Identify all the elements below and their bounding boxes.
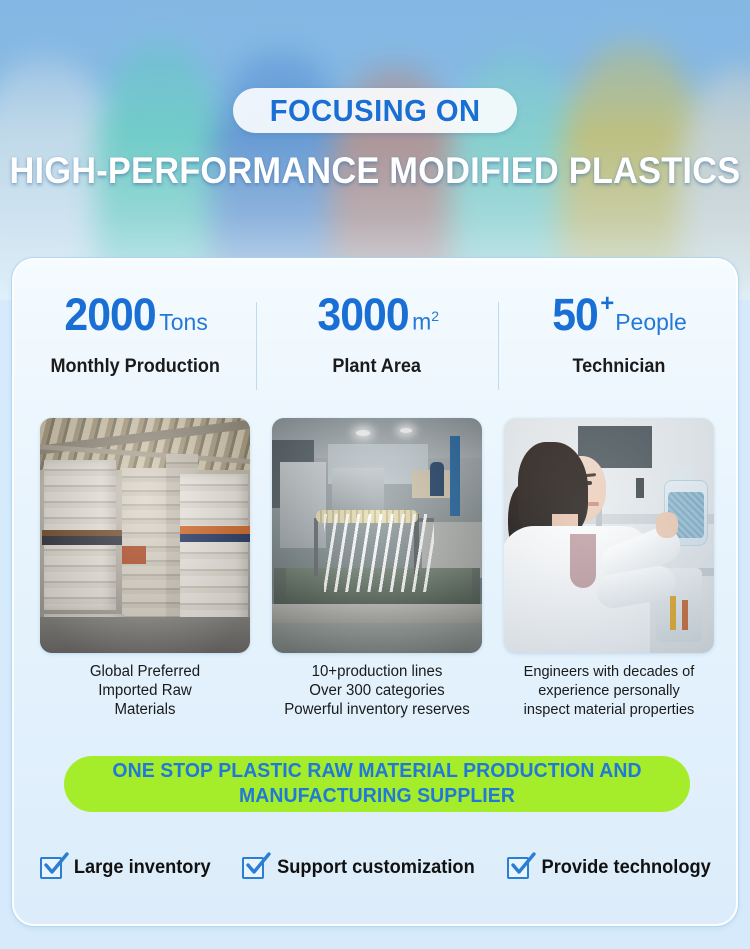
stat-unit: m2 bbox=[412, 301, 439, 337]
content-card: 2000 Tons Monthly Production 3000 m2 Pla… bbox=[12, 258, 738, 926]
stat-number: 2000 bbox=[65, 292, 156, 338]
checkbox-checked-icon[interactable] bbox=[242, 857, 264, 879]
one-stop-supplier-banner[interactable]: ONE STOP PLASTIC RAW MATERIAL PRODUCTION… bbox=[64, 756, 690, 812]
stat-unit-superscript: 2 bbox=[431, 308, 439, 324]
lab-technician-inspecting-pellets-photo bbox=[504, 418, 714, 653]
stat-number: 3000 bbox=[317, 292, 408, 338]
focusing-on-badge-label: FOCUSING ON bbox=[270, 93, 481, 129]
one-stop-supplier-banner-label: ONE STOP PLASTIC RAW MATERIAL PRODUCTION… bbox=[73, 759, 680, 809]
stat-label: Plant Area bbox=[333, 356, 422, 378]
checkbox-checked-icon[interactable] bbox=[40, 857, 62, 879]
checklist-item-label: Support customization bbox=[277, 857, 475, 879]
warehouse-stacked-raw-material-bags-photo bbox=[40, 418, 250, 653]
stat-plant-area: 3000 m2 Plant Area bbox=[256, 292, 498, 402]
stat-unit: People bbox=[615, 307, 687, 337]
stat-label: Monthly Production bbox=[50, 356, 219, 378]
stat-unit: Tons bbox=[159, 307, 208, 337]
feature-columns: Global Preferred Imported Raw Materials … bbox=[40, 418, 714, 719]
checklist-item-support-customization[interactable]: Support customization bbox=[242, 857, 479, 879]
stat-label: Technician bbox=[573, 356, 666, 378]
feature-checklist: Large inventory Support customization Pr… bbox=[40, 848, 714, 888]
feature-production-lines: 10+production lines Over 300 categories … bbox=[272, 418, 482, 719]
stat-number: 50 bbox=[552, 292, 598, 338]
hero-banner: FOCUSING ON HIGH-PERFORMANCE MODIFIED PL… bbox=[0, 0, 750, 300]
feature-engineers: Engineers with decades of experience per… bbox=[504, 418, 714, 719]
checklist-item-provide-technology[interactable]: Provide technology bbox=[507, 857, 714, 879]
checklist-item-label: Provide technology bbox=[541, 857, 710, 879]
feature-caption: Global Preferred Imported Raw Materials bbox=[43, 662, 247, 719]
focusing-on-badge: FOCUSING ON bbox=[233, 88, 517, 133]
feature-caption: Engineers with decades of experience per… bbox=[507, 662, 711, 719]
stat-technician: 50 + People Technician bbox=[498, 292, 740, 402]
page-title: HIGH-PERFORMANCE MODIFIED PLASTICS bbox=[10, 150, 741, 192]
extrusion-production-line-water-bath-photo bbox=[272, 418, 482, 653]
stat-monthly-production: 2000 Tons Monthly Production bbox=[14, 292, 256, 402]
checklist-item-large-inventory[interactable]: Large inventory bbox=[40, 857, 214, 879]
stat-plus-superscript: + bbox=[600, 292, 614, 316]
feature-raw-materials: Global Preferred Imported Raw Materials bbox=[40, 418, 250, 719]
checkbox-checked-icon[interactable] bbox=[507, 857, 529, 879]
stats-row: 2000 Tons Monthly Production 3000 m2 Pla… bbox=[14, 292, 740, 402]
checklist-item-label: Large inventory bbox=[74, 857, 211, 879]
feature-caption: 10+production lines Over 300 categories … bbox=[275, 662, 479, 719]
